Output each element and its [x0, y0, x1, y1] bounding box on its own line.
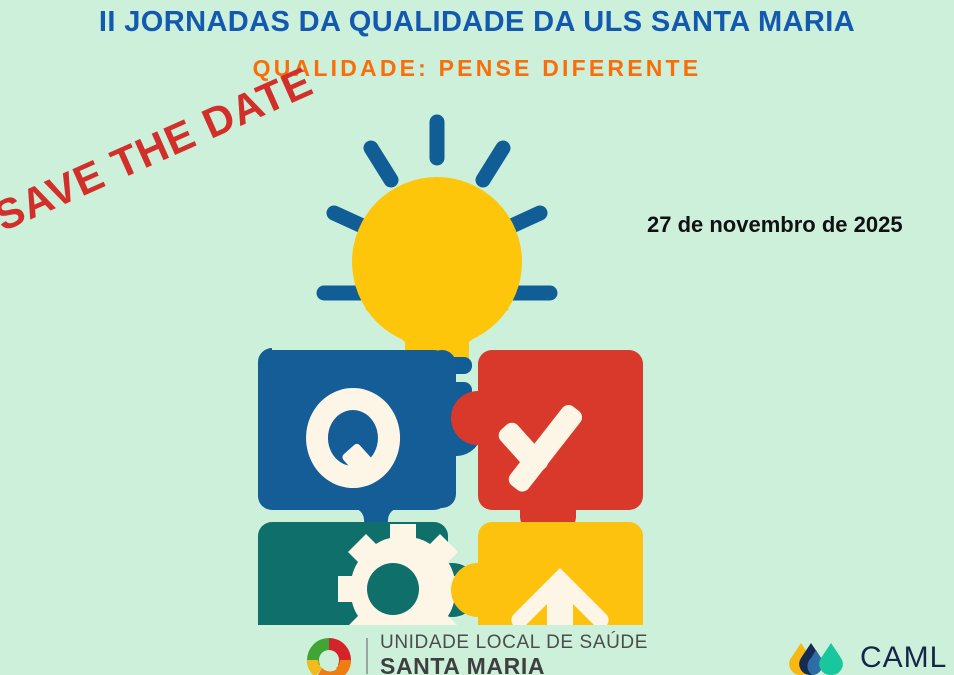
logo-divider — [366, 638, 368, 674]
artwork-illustration — [250, 110, 650, 625]
uls-logo-line-1: UNIDADE LOCAL DE SAÚDE — [380, 633, 648, 654]
uls-santa-maria-logo: UNIDADE LOCAL DE SAÚDE SANTA MARIA — [300, 634, 648, 675]
ray-upper-left-icon — [371, 148, 391, 180]
puzzle-piece-arrow — [451, 494, 643, 625]
page-title: II JORNADAS DA QUALIDADE DA ULS SANTA MA… — [0, 6, 954, 39]
lightbulb-glass-icon — [352, 177, 522, 360]
ray-upper-right-icon — [483, 148, 503, 180]
caml-logo: CAML — [788, 638, 947, 675]
uls-swirl-icon — [300, 634, 358, 675]
puzzle-piece-gear — [258, 522, 479, 625]
puzzle-piece-quality — [258, 348, 482, 536]
event-date: 27 de novembro de 2025 — [647, 212, 903, 238]
uls-logo-text: UNIDADE LOCAL DE SAÚDE SANTA MARIA — [380, 633, 648, 675]
page-subtitle: QUALIDADE: PENSE DIFERENTE — [0, 55, 954, 82]
caml-logo-text: CAML — [860, 641, 947, 675]
caml-m-icon — [788, 639, 850, 675]
poster-canvas: II JORNADAS DA QUALIDADE DA ULS SANTA MA… — [0, 0, 954, 675]
uls-logo-line-2: SANTA MARIA — [380, 654, 648, 675]
